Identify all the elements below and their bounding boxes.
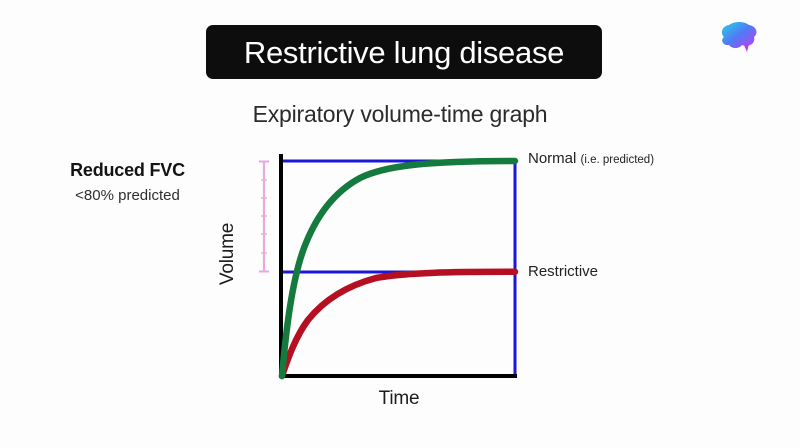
legend-restrictive: Restrictive — [528, 263, 598, 280]
fvc-bracket — [259, 161, 269, 272]
legend-normal-paren: (i.e. predicted) — [581, 154, 655, 166]
plateau-lines — [281, 161, 516, 376]
chart-axes — [279, 154, 517, 376]
reduced-fvc-heading: Reduced FVC — [20, 160, 235, 181]
legend-normal-main: Normal — [528, 150, 581, 167]
page-title: Restrictive lung disease — [244, 37, 564, 68]
restrictive-curve — [282, 272, 515, 376]
reduced-fvc-annotation: Reduced FVC <80% predicted — [20, 160, 235, 204]
y-axis-label: Volume — [216, 204, 240, 304]
slide-canvas: Restrictive lung disease Expiratory volu… — [0, 0, 800, 448]
chart-subtitle: Expiratory volume-time graph — [0, 101, 800, 128]
volume-time-chart — [236, 140, 536, 390]
reduced-fvc-detail: <80% predicted — [20, 187, 235, 204]
legend-normal: Normal (i.e. predicted) — [528, 150, 654, 167]
x-axis-label: Time — [281, 388, 517, 410]
normal-curve — [282, 161, 515, 376]
brain-logo — [718, 18, 762, 54]
slide-title-badge: Restrictive lung disease — [206, 25, 602, 79]
